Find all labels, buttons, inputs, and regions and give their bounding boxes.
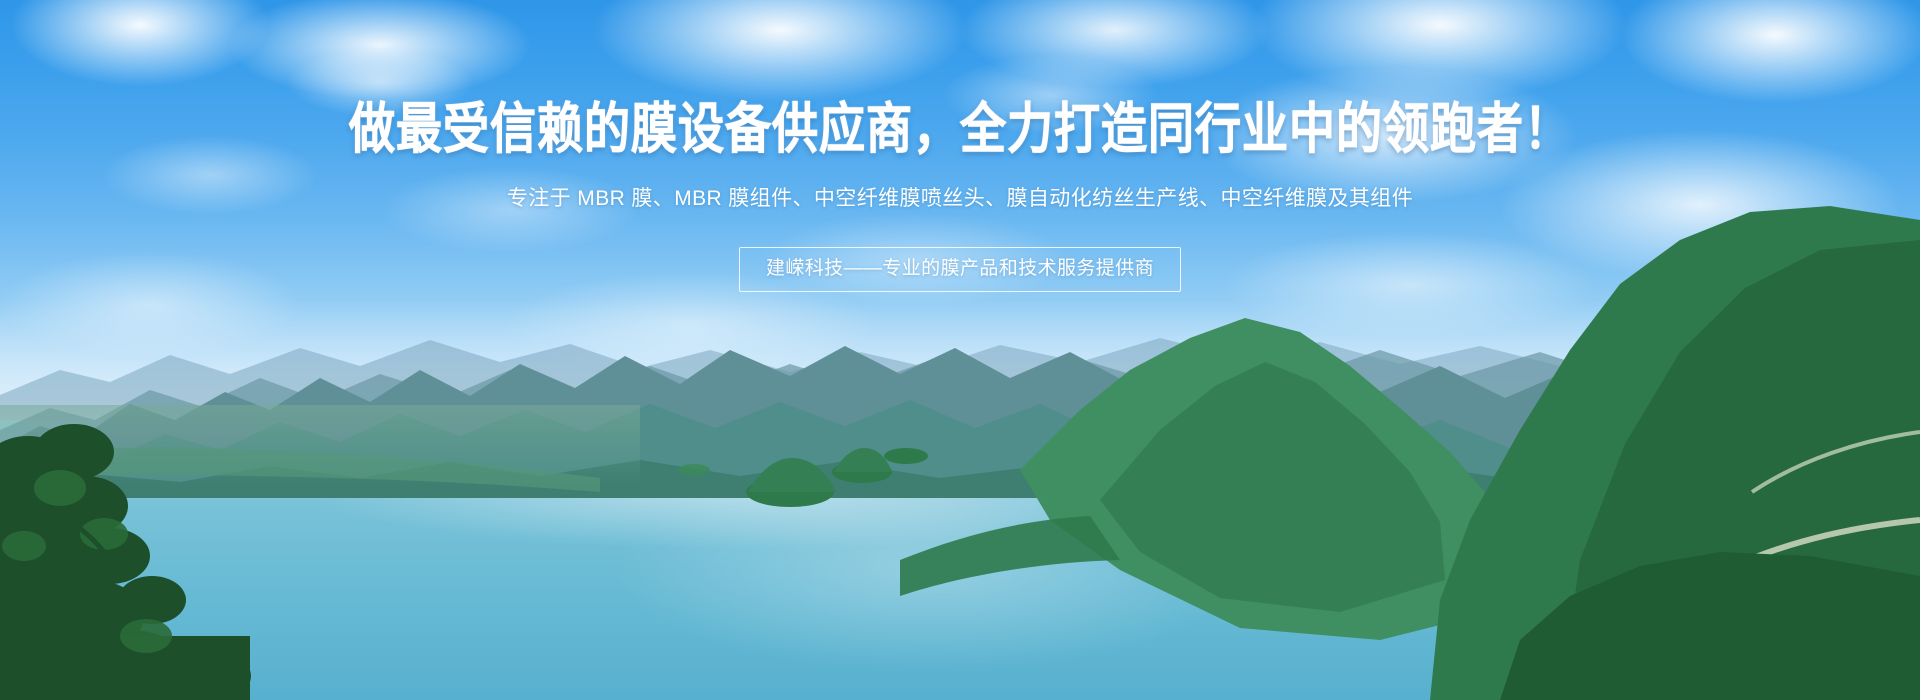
tagline-text: 建嵘科技——专业的膜产品和技术服务提供商 xyxy=(766,258,1154,279)
hero-banner: 做最受信赖的膜设备供应商，全力打造同行业中的领跑者！ 专注于 MBR 膜、MBR… xyxy=(0,0,1920,700)
tagline-box: 建嵘科技——专业的膜产品和技术服务提供商 xyxy=(739,247,1181,292)
banner-headline: 做最受信赖的膜设备供应商，全力打造同行业中的领跑者！ xyxy=(349,98,1571,159)
banner-content: 做最受信赖的膜设备供应商，全力打造同行业中的领跑者！ 专注于 MBR 膜、MBR… xyxy=(0,0,1920,700)
banner-subtitle: 专注于 MBR 膜、MBR 膜组件、中空纤维膜喷丝头、膜自动化纺丝生产线、中空纤… xyxy=(507,184,1413,214)
